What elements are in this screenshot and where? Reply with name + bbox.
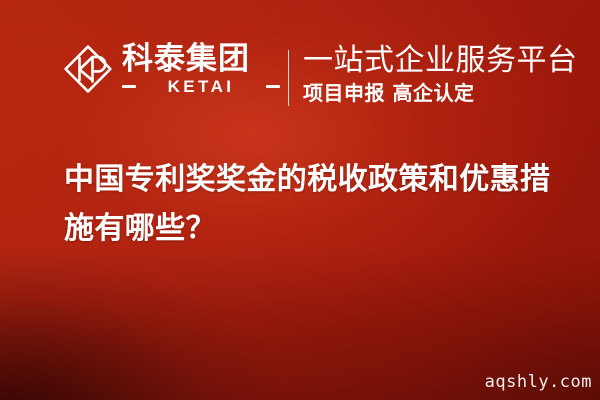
header-divider bbox=[288, 50, 289, 106]
brand-name-en: KETAI bbox=[136, 78, 266, 95]
site-watermark: aqshly.com bbox=[485, 373, 592, 392]
kp-monogram-icon bbox=[62, 43, 114, 95]
brand-tagline: 一站式企业服务平台 bbox=[303, 44, 578, 78]
brand-tagline-block: 一站式企业服务平台 项目申报 高企认定 bbox=[303, 44, 578, 105]
brand-logo[interactable]: 科泰集团 KETAI bbox=[62, 42, 280, 95]
dash-right-icon bbox=[266, 85, 280, 88]
banner-header: 科泰集团 KETAI 一站式企业服务平台 项目申报 高企认定 bbox=[0, 0, 600, 128]
dash-left-icon bbox=[122, 85, 136, 88]
brand-name-cn: 科泰集团 bbox=[122, 43, 280, 75]
page-title: 中国专利奖奖金的税收政策和优惠措施有哪些？ bbox=[64, 155, 564, 253]
brand-subtagline: 项目申报 高企认定 bbox=[303, 81, 578, 105]
brand-wordmark: 科泰集团 KETAI bbox=[122, 43, 280, 95]
article-banner: 科泰集团 KETAI 一站式企业服务平台 项目申报 高企认定 中国专利奖奖金的税… bbox=[0, 0, 600, 400]
brand-name-en-row: KETAI bbox=[122, 78, 280, 95]
